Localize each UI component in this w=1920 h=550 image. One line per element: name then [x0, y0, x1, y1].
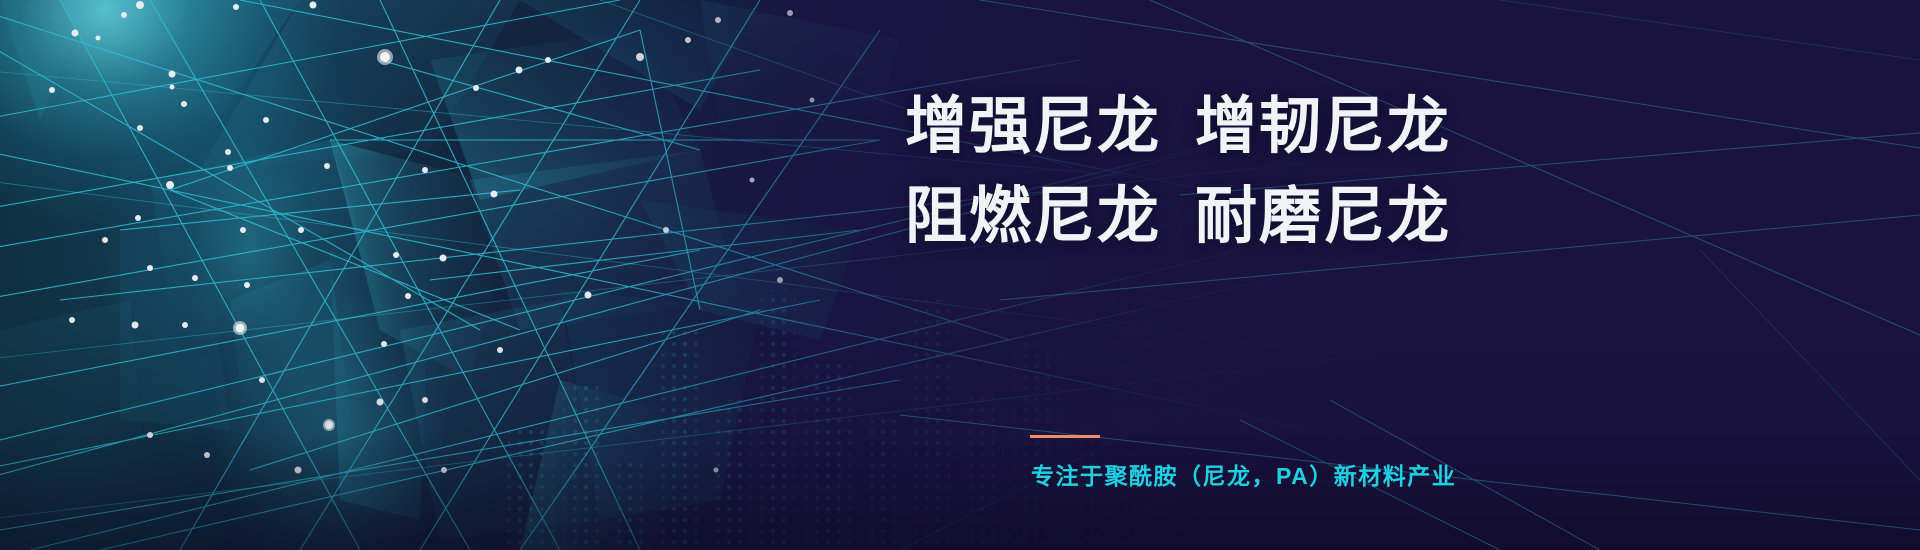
- headline-line-1: 增强尼龙增韧尼龙: [905, 96, 1451, 158]
- hero-banner: 增强尼龙增韧尼龙 阻燃尼龙耐磨尼龙 专注于聚酰胺（尼龙，PA）新材料产业: [0, 0, 1920, 550]
- headline-line-2: 阻燃尼龙耐磨尼龙: [905, 186, 1451, 248]
- banner-subtitle: 专注于聚酰胺（尼龙，PA）新材料产业: [1031, 457, 1456, 491]
- accent-rule: [1030, 435, 1100, 438]
- headline-text-flame-retardant-nylon: 阻燃尼龙: [905, 182, 1161, 251]
- headline-text-wear-resistant-nylon: 耐磨尼龙: [1195, 182, 1451, 251]
- banner-content: 增强尼龙增韧尼龙 阻燃尼龙耐磨尼龙 专注于聚酰胺（尼龙，PA）新材料产业: [900, 0, 1600, 550]
- headline-text-reinforced-nylon: 增强尼龙: [905, 92, 1161, 161]
- headline-text-toughened-nylon: 增韧尼龙: [1195, 92, 1451, 161]
